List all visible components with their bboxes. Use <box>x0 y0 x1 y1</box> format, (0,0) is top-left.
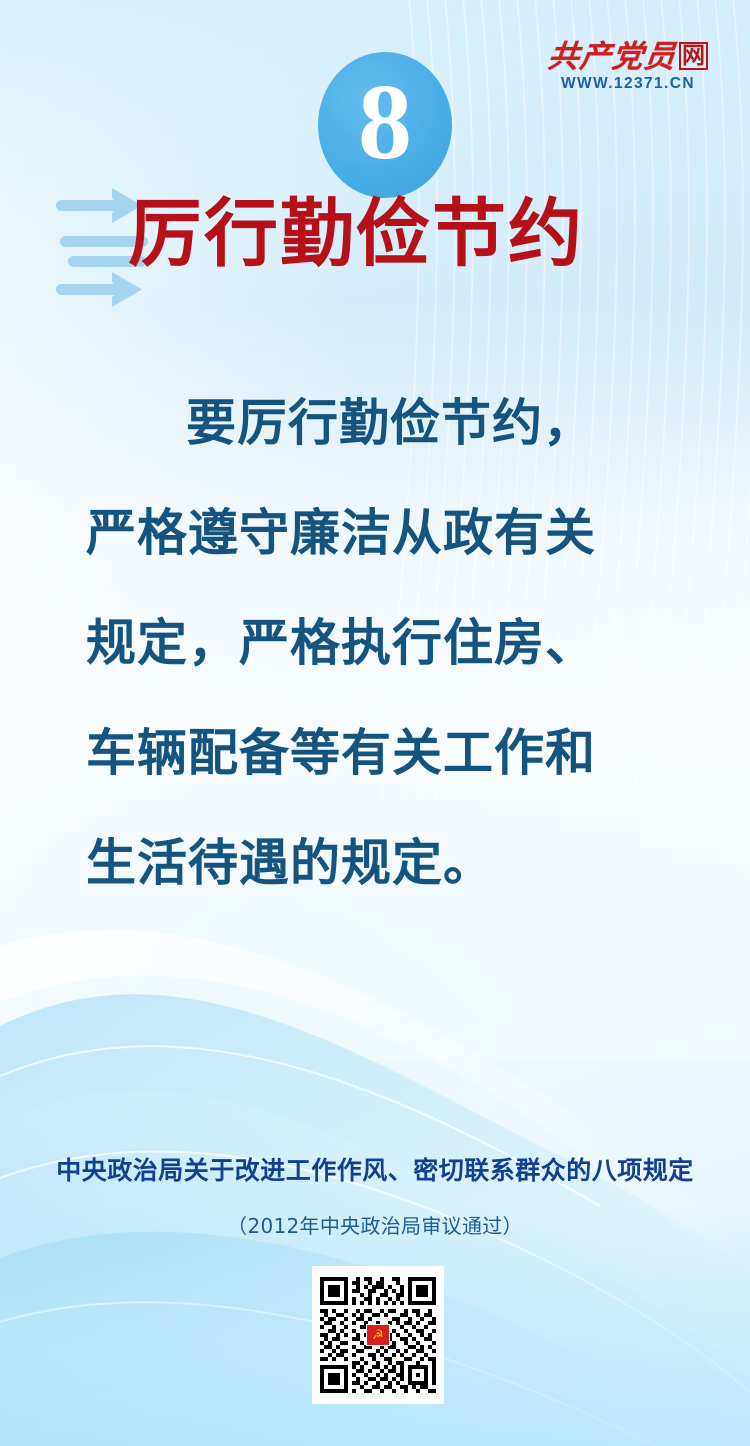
qr-code[interactable]: ☭ <box>312 1266 444 1404</box>
site-logo[interactable]: 共产党员 网 WWW.12371.CN <box>528 32 728 96</box>
party-emblem-icon: ☭ <box>366 1324 390 1346</box>
footer-regulation-subtitle: （2012年中央政治局审议通过） <box>0 1210 750 1239</box>
section-number: 8 <box>358 69 412 177</box>
logo-wordmark: 共产党员 <box>546 41 677 72</box>
section-number-badge: 8 <box>318 52 452 198</box>
body-text-block: 要厉行勤俭节约， 严格遵守廉洁从政有关 规定，严格执行住房、 车辆配备等有关工作… <box>86 398 671 888</box>
body-line: 严格遵守廉洁从政有关 <box>86 508 671 558</box>
page-title: 厉行勤俭节约 <box>128 196 688 274</box>
footer-regulation-title: 中央政治局关于改进工作作风、密切联系群众的八项规定 <box>0 1151 750 1187</box>
body-line: 车辆配备等有关工作和 <box>86 728 671 778</box>
body-line: 生活待遇的规定。 <box>86 838 671 888</box>
logo-net-badge: 网 <box>679 42 708 70</box>
body-line: 要厉行勤俭节约， <box>86 398 671 448</box>
poster-root: 共产党员 网 WWW.12371.CN 8 厉行勤俭节约 要厉行勤俭节约， 严格… <box>0 0 750 1446</box>
body-line: 规定，严格执行住房、 <box>86 618 671 668</box>
logo-url: WWW.12371.CN <box>528 75 728 93</box>
logo-mark: 共产党员 网 <box>528 32 728 72</box>
party-emblem-glyph: ☭ <box>372 1329 384 1342</box>
